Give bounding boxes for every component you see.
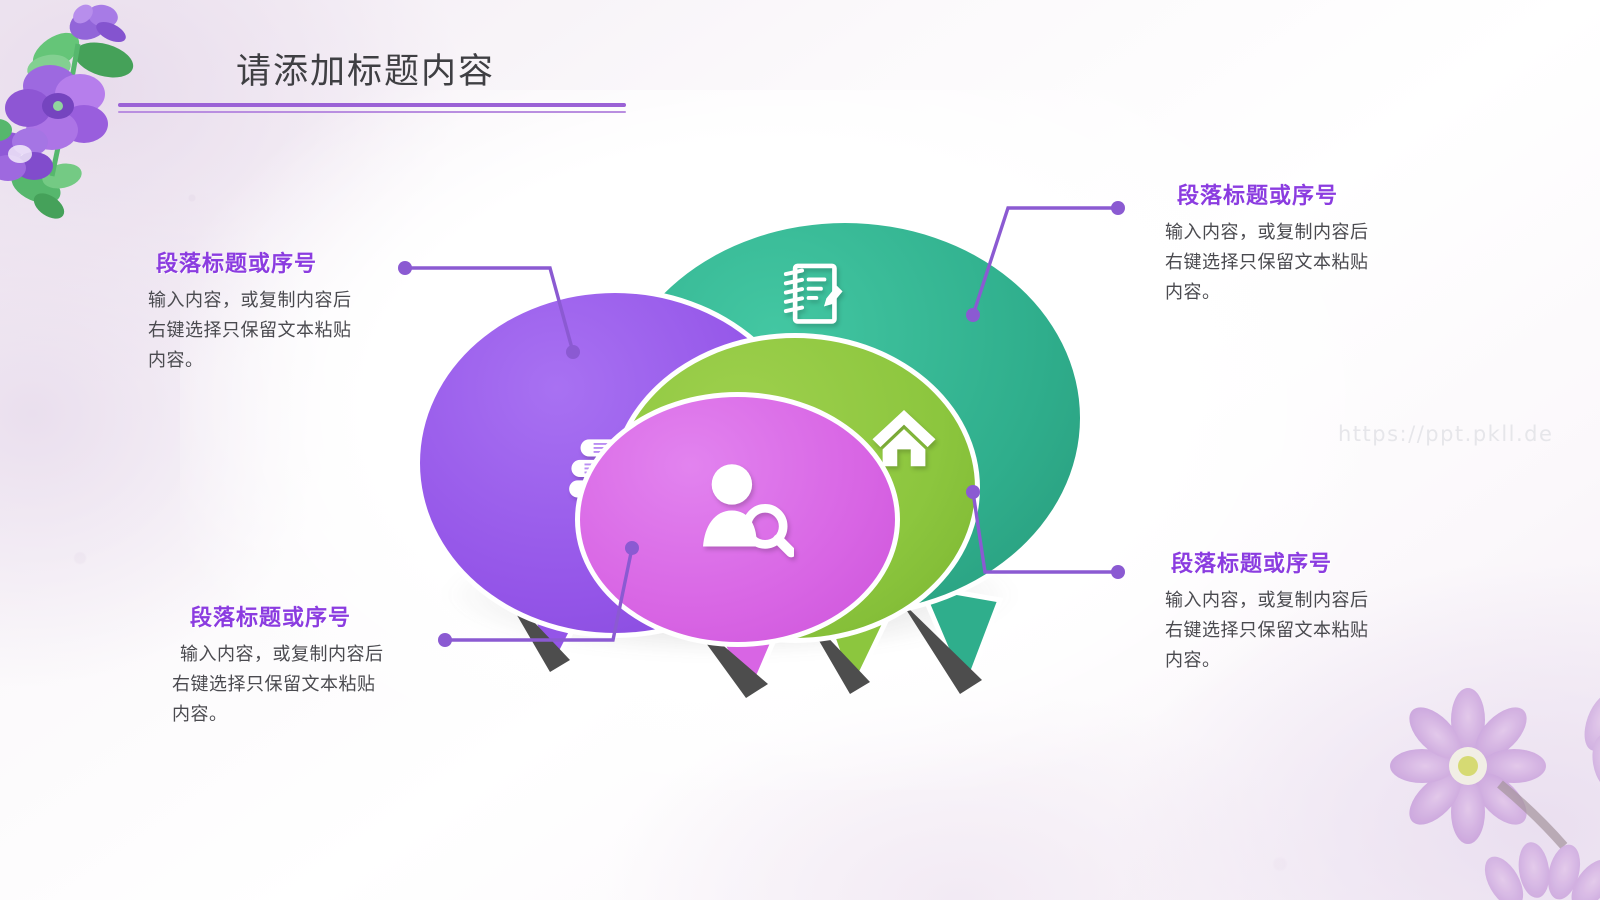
callout-4-heading: 段落标题或序号	[172, 600, 386, 632]
slide-canvas: 请添加标题内容	[0, 0, 1600, 900]
callout-2[interactable]: 段落标题或序号 输入内容，或复制内容后右键选择只保留文本粘贴内容。	[1165, 178, 1377, 308]
callout-3-heading: 段落标题或序号	[1165, 546, 1377, 578]
title-rule-thin	[118, 111, 626, 113]
bubble-pink[interactable]	[575, 392, 900, 647]
page-title: 请添加标题内容	[118, 50, 818, 94]
callout-3-body: 输入内容，或复制内容后右键选择只保留文本粘贴内容。	[1165, 586, 1377, 676]
title-underline	[118, 103, 626, 113]
callout-2-body: 输入内容，或复制内容后右键选择只保留文本粘贴内容。	[1165, 218, 1377, 308]
user-search-icon	[683, 450, 801, 568]
callout-1[interactable]: 段落标题或序号 输入内容，或复制内容后右键选择只保留文本粘贴内容。	[148, 246, 358, 376]
callout-1-body: 输入内容，或复制内容后右键选择只保留文本粘贴内容。	[148, 286, 358, 376]
title-block: 请添加标题内容	[118, 50, 818, 113]
callout-2-heading: 段落标题或序号	[1165, 178, 1377, 210]
callout-4-body: 输入内容，或复制内容后右键选择只保留文本粘贴内容。	[172, 640, 386, 730]
speech-bubble-diagram	[400, 200, 1120, 700]
floral-top-left-decoration	[0, 0, 204, 240]
callout-4[interactable]: 段落标题或序号 输入内容，或复制内容后右键选择只保留文本粘贴内容。	[172, 600, 386, 730]
watermark-url: https://ppt.pkll.de	[1338, 422, 1553, 446]
callout-1-heading: 段落标题或序号	[148, 246, 358, 278]
floral-bottom-right-decoration	[1350, 674, 1600, 900]
title-rule-thick	[118, 103, 626, 107]
callout-3[interactable]: 段落标题或序号 输入内容，或复制内容后右键选择只保留文本粘贴内容。	[1165, 546, 1377, 676]
